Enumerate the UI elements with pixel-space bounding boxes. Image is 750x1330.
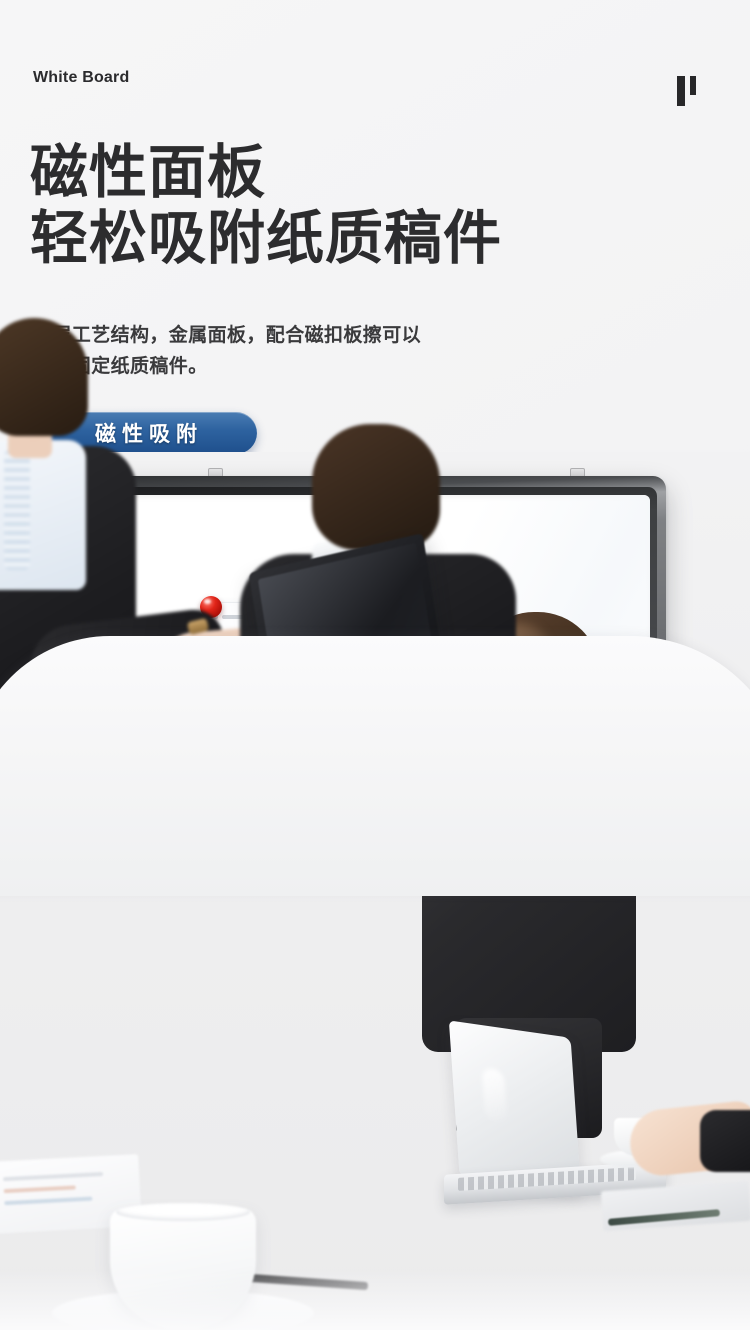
pause-bars-icon-bar-short bbox=[690, 76, 696, 95]
conference-table bbox=[0, 636, 750, 896]
page-eyebrow-label: White Board bbox=[33, 69, 129, 87]
document-line bbox=[4, 1185, 76, 1193]
right-person-sleeve bbox=[700, 1110, 750, 1172]
center-person-hair bbox=[312, 424, 440, 550]
document-line bbox=[3, 1172, 103, 1181]
left-woman-hair bbox=[0, 318, 88, 436]
silver-laptop-lid bbox=[449, 1020, 581, 1191]
page-title: 磁性面板 轻松吸附纸质稿件 bbox=[30, 140, 502, 272]
document-line bbox=[4, 1197, 92, 1206]
pause-bars-icon-bar-tall bbox=[677, 76, 685, 106]
bottom-fade bbox=[0, 1270, 750, 1330]
left-woman-blouse bbox=[0, 440, 86, 590]
product-detail-page: White Board 磁性面板 轻松吸附纸质稿件 多层工艺结构，金属面板，配合… bbox=[0, 0, 750, 1330]
pause-bars-icon bbox=[677, 76, 703, 106]
